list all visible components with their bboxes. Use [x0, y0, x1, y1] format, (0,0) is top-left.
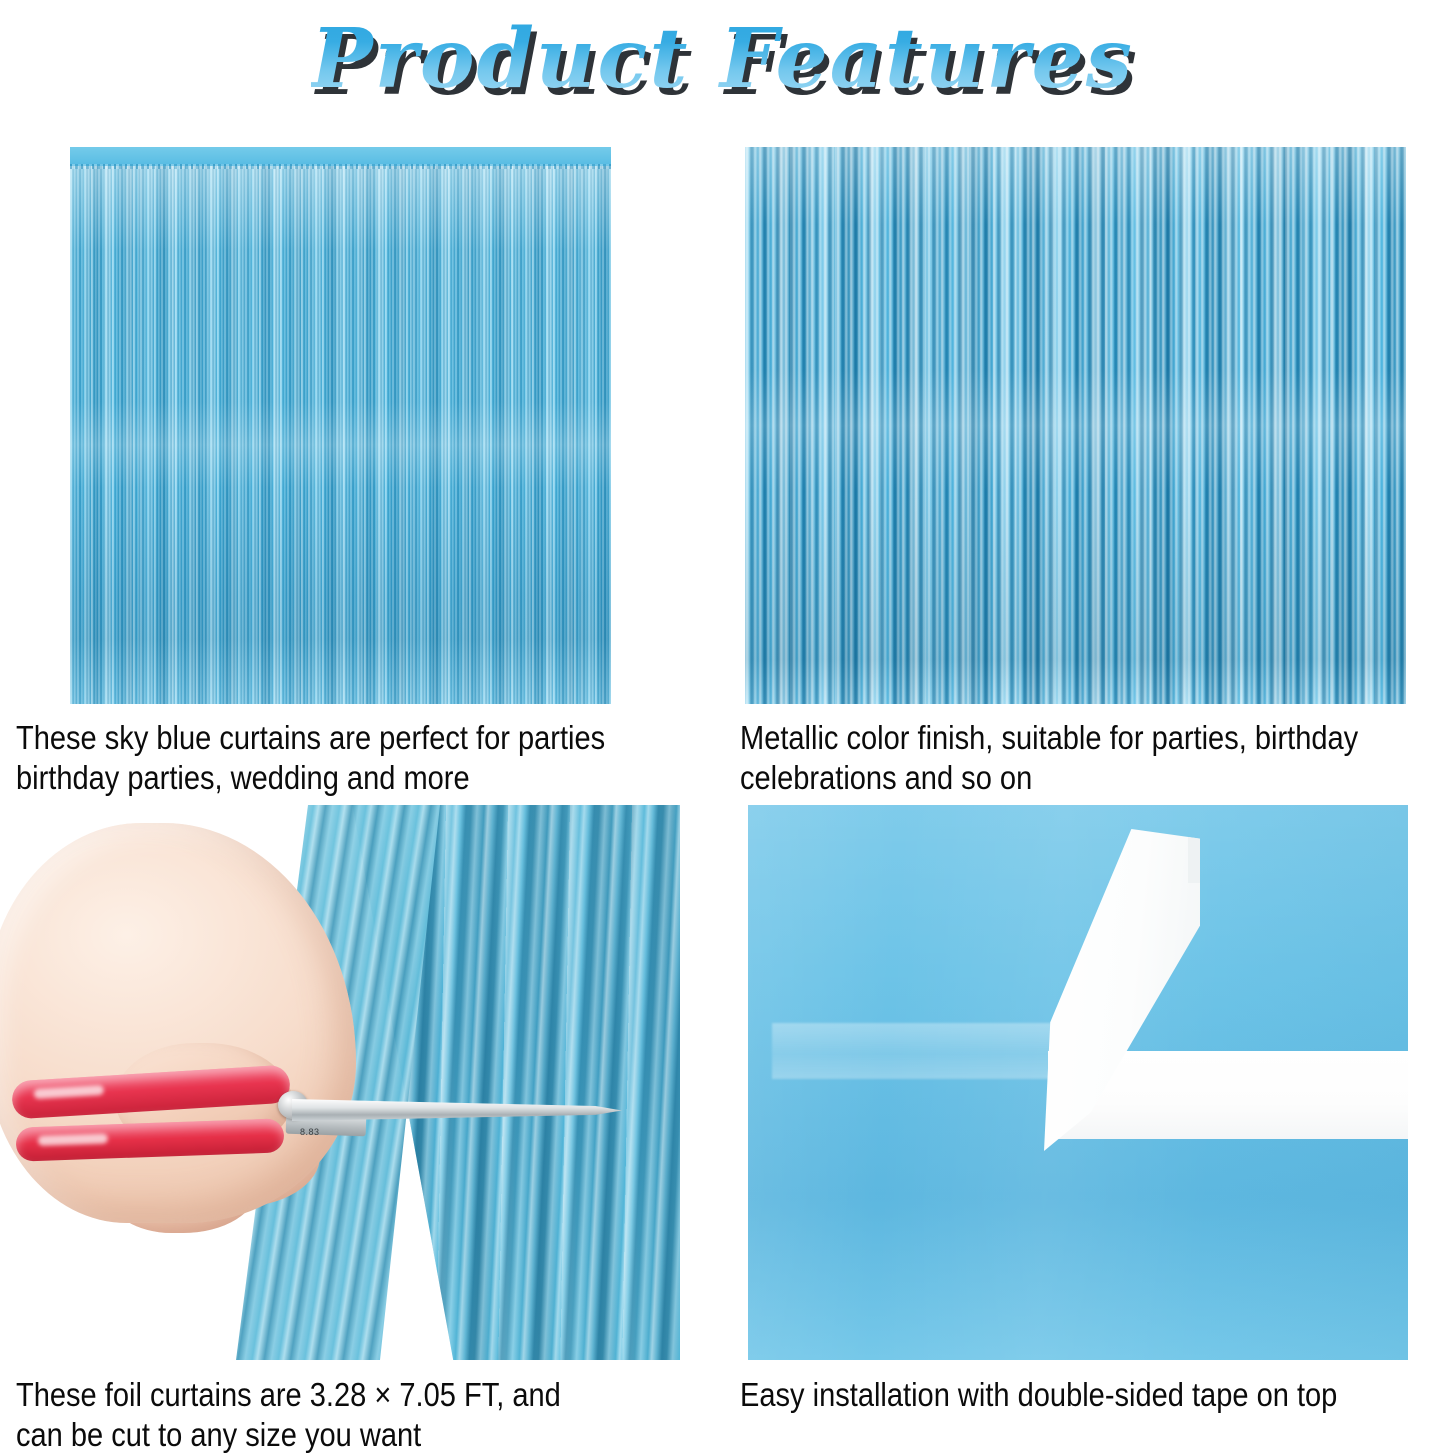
feature-caption-1: These sky blue curtains are perfect for … — [16, 718, 711, 799]
curtain-sheen-overlay — [70, 164, 611, 704]
tape-residue-strip — [772, 1023, 1062, 1079]
feature-caption-3: These foil curtains are 3.28 × 7.05 FT, … — [16, 1375, 711, 1456]
page-header: Product Features Product Features — [0, 0, 1445, 118]
feature-caption-2: Metallic color finish, suitable for part… — [740, 718, 1445, 799]
feature-image-metallic-finish-closeup — [745, 147, 1406, 704]
curtain-header-band — [70, 147, 611, 166]
feature-image-cutting-curtain-with-scissors: 8.83 — [0, 805, 680, 1360]
feature-image-double-sided-tape — [748, 805, 1408, 1360]
page-title-text: Product Features — [311, 11, 1134, 107]
metallic-sheen-overlay — [745, 147, 1406, 704]
scissors-blade-marking: 8.83 — [300, 1127, 320, 1137]
page-title: Product Features Product Features — [311, 18, 1134, 100]
feature-image-sky-blue-fringe-curtain — [70, 147, 611, 704]
feature-caption-4: Easy installation with double-sided tape… — [740, 1375, 1445, 1415]
